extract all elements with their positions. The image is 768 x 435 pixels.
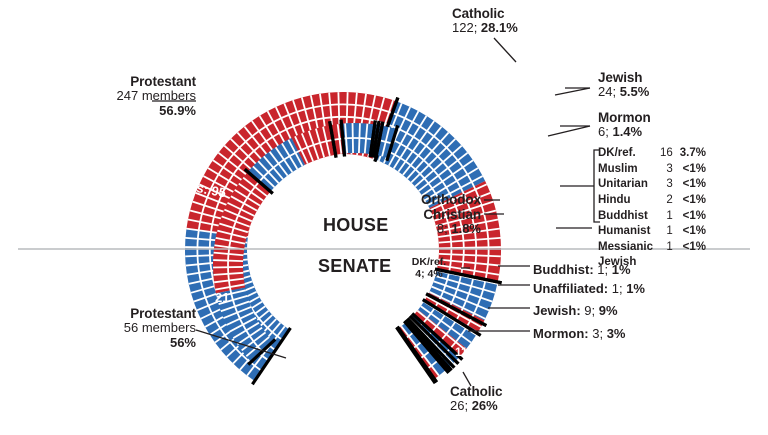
house-minor-row: Buddhist1<1%	[598, 209, 706, 225]
house-mormon-value: 6;	[598, 124, 612, 139]
house-minor-name: Buddhist	[598, 209, 660, 225]
house-minor-count: 1	[660, 224, 680, 240]
house-minor-row: DK/ref.163.7%	[598, 146, 706, 162]
house-mormon-label: Mormon 6; 1.4%	[598, 110, 651, 140]
senate-catholic-value: 26;	[450, 398, 472, 413]
house-minor-pct: <1%	[680, 177, 706, 193]
senate-grid-spoke	[359, 123, 360, 153]
house-jewish-value: 24;	[598, 84, 620, 99]
house-minor-name: Hindu	[598, 193, 660, 209]
house-minor-pct: 3.7%	[680, 146, 706, 162]
house-orthodox-percent: 1.8%	[451, 221, 481, 236]
house-mormon-title: Mormon	[598, 110, 651, 125]
house-minor-count: 16	[660, 146, 680, 162]
house-catholic-red-count: 56	[481, 110, 495, 125]
house-catholic-title: Catholic	[452, 6, 518, 21]
senate-protestant-blue-count: 21	[215, 290, 229, 305]
senate-label-unaffiliated: Unaffiliated: 1; 1%	[533, 281, 645, 296]
house-minor-pct: <1%	[680, 162, 706, 178]
house-jewish-percent: 5.5%	[620, 84, 650, 99]
senate-label-unaffiliated-name: Unaffiliated:	[533, 281, 612, 296]
senate-label-jewish: Jewish: 9; 9%	[533, 303, 618, 318]
senate-grid-spoke	[353, 123, 354, 153]
house-orthodox-label: Orthodox Christian 8; 1.8%	[403, 192, 481, 237]
house-jewish-title: Jewish	[598, 70, 649, 85]
leader-line	[555, 88, 590, 95]
senate-protestant-red-count: 35	[296, 377, 310, 392]
leader-line	[548, 126, 590, 136]
senate-dkref-label: DK/ref. 4; 4%	[398, 256, 460, 281]
house-minor-pct: <1%	[680, 209, 706, 225]
senate-protestant-title: Protestant	[44, 306, 196, 321]
senate-grid-spoke	[213, 260, 243, 261]
house-minor-name: Muslim	[598, 162, 660, 178]
senate-catholic-blue-count: 15	[402, 381, 416, 396]
house-orthodox-title-1: Orthodox	[403, 192, 481, 207]
house-protestant-percent: 56.9%	[159, 103, 196, 118]
senate-label-jewish-name: Jewish:	[533, 303, 584, 318]
senate-catholic-title: Catholic	[450, 384, 502, 399]
house-protestant-label: Protestant 247 members 56.9%	[46, 74, 196, 118]
house-messianic-count: 1	[660, 240, 680, 271]
house-minor-count: 2	[660, 193, 680, 209]
house-messianic-pct: <1%	[680, 240, 706, 271]
senate-catholic-red-count: 11	[455, 345, 468, 359]
senate-label-unaffiliated-pct: 1%	[626, 281, 645, 296]
house-jewish-label: Jewish 24; 5.5%	[598, 70, 649, 100]
house-mormon-percent: 1.4%	[612, 124, 642, 139]
senate-dkref-value: 4; 4%	[398, 268, 460, 280]
senate-label-mormon: Mormon: 3; 3%	[533, 326, 625, 341]
senate-protestant-percent: 56%	[170, 335, 196, 350]
house-minor-row: Humanist1<1%	[598, 224, 706, 240]
house-minor-name: Unitarian	[598, 177, 660, 193]
house-minor-count: 3	[660, 162, 680, 178]
house-grid-spoke	[439, 247, 501, 248]
senate-label-buddhist-value: 1;	[597, 262, 611, 277]
senate-protestant-members: 56 members	[44, 321, 196, 336]
house-minor-pct: <1%	[680, 224, 706, 240]
senate-catholic-percent: 26%	[472, 398, 498, 413]
senate-label-jewish-value: 9;	[584, 303, 598, 318]
leader-line	[494, 38, 516, 62]
infographic-canvas: HOUSE Protestant 247 members 56.9% Catho…	[0, 0, 768, 435]
senate-label-mormon-pct: 3%	[607, 326, 626, 341]
house-minor-name: Humanist	[598, 224, 660, 240]
senate-label-mormon-value: 3;	[592, 326, 606, 341]
house-minor-row: Unitarian3<1%	[598, 177, 706, 193]
house-minor-row: Muslim3<1%	[598, 162, 706, 178]
house-catholic-blue-count: 66	[409, 52, 423, 67]
senate-label-mormon-name: Mormon:	[533, 326, 592, 341]
house-catholic-percent: 28.1%	[481, 20, 518, 35]
senate-label-buddhist-name: Buddhist:	[533, 262, 597, 277]
house-orthodox-title-2: Christian	[403, 207, 481, 222]
house-minor-count: 1	[660, 209, 680, 225]
house-orthodox-value: 8;	[437, 221, 451, 236]
section-title-house: HOUSE	[323, 215, 389, 236]
section-title-senate: SENATE	[318, 256, 391, 277]
senate-protestant-label: Protestant 56 members 56%	[44, 306, 196, 350]
house-protestant-members: 247 members	[46, 89, 196, 104]
house-minor-religions-table: DK/ref.163.7%Muslim3<1%Unitarian3<1%Hind…	[598, 146, 706, 271]
senate-label-jewish-pct: 9%	[599, 303, 618, 318]
senate-label-buddhist-pct: 1%	[612, 262, 631, 277]
house-minor-count: 3	[660, 177, 680, 193]
house-catholic-label: Catholic 122; 28.1%	[452, 6, 518, 36]
house-minor-pct: <1%	[680, 193, 706, 209]
senate-catholic-label: Catholic 26; 26%	[450, 384, 502, 414]
senate-dkref-title: DK/ref.	[398, 256, 460, 268]
house-minor-name: DK/ref.	[598, 146, 660, 162]
senate-label-unaffiliated-value: 1;	[612, 281, 626, 296]
house-catholic-value: 122;	[452, 20, 481, 35]
senate-grid-spoke	[213, 267, 243, 268]
house-protestant-title: Protestant	[46, 74, 196, 89]
senate-label-buddhist: Buddhist: 1; 1%	[533, 262, 631, 277]
house-minor-row: Hindu2<1%	[598, 193, 706, 209]
